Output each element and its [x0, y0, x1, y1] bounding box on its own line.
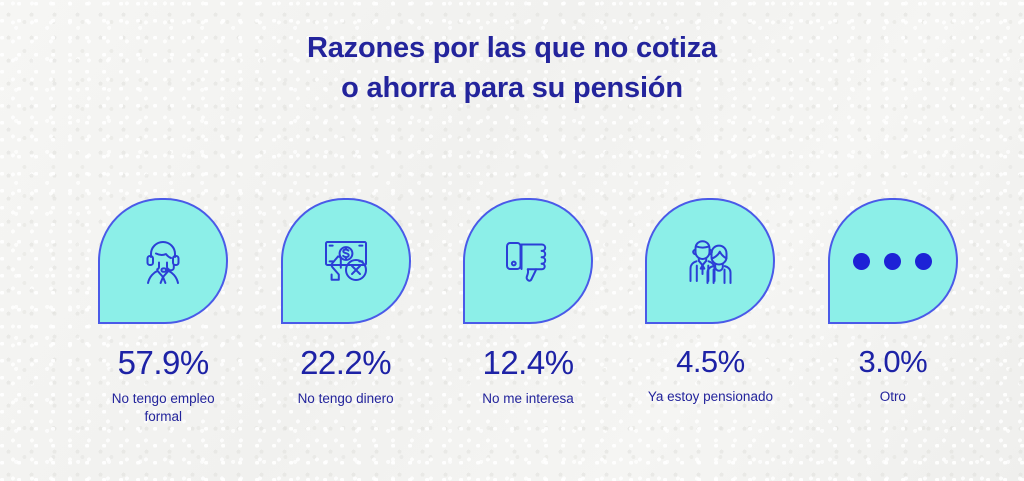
- thumbs-down-icon: [501, 234, 555, 288]
- reason-label: No tengo empleo formal: [112, 390, 215, 426]
- reason-value: 4.5%: [676, 346, 745, 377]
- reason-card-not-interested: 12.4% No me interesa: [437, 198, 619, 426]
- reason-label: Ya estoy pensionado: [648, 388, 773, 406]
- reasons-row: 57.9% No tengo empleo formal: [72, 198, 984, 426]
- reason-bubble: [828, 198, 958, 324]
- page-title-line-2: o ahorra para su pensión: [0, 68, 1024, 108]
- reason-card-already-retired: 4.5% Ya estoy pensionado: [619, 198, 801, 426]
- page-title: Razones por las que no cotiza o ahorra p…: [0, 28, 1024, 108]
- no-money-icon: [318, 233, 374, 289]
- reason-value: 22.2%: [300, 346, 391, 379]
- ellipsis-dot: [915, 253, 932, 270]
- reason-value: 3.0%: [858, 346, 927, 377]
- ellipsis-dot: [884, 253, 901, 270]
- reason-bubble: [281, 198, 411, 324]
- reason-label: No me interesa: [482, 390, 574, 408]
- ellipsis-icon: [853, 253, 932, 270]
- reason-card-no-money: 22.2% No tengo dinero: [254, 198, 436, 426]
- reason-bubble: [98, 198, 228, 324]
- reason-label: No tengo dinero: [298, 390, 394, 408]
- ellipsis-dot: [853, 253, 870, 270]
- reason-value: 12.4%: [482, 346, 573, 379]
- elderly-couple-icon: [682, 233, 738, 289]
- reason-card-other: 3.0% Otro: [802, 198, 984, 426]
- reason-card-no-formal-job: 57.9% No tengo empleo formal: [72, 198, 254, 426]
- page-title-line-1: Razones por las que no cotiza: [0, 28, 1024, 68]
- reason-label-line-1: No tengo empleo: [112, 391, 215, 406]
- headset-person-icon: [135, 233, 191, 289]
- reason-label: Otro: [880, 388, 906, 406]
- reason-bubble: [645, 198, 775, 324]
- infographic-slide: Razones por las que no cotiza o ahorra p…: [0, 0, 1024, 481]
- reason-bubble: [463, 198, 593, 324]
- reason-value: 57.9%: [118, 346, 209, 379]
- reason-label-line-2: formal: [144, 409, 182, 424]
